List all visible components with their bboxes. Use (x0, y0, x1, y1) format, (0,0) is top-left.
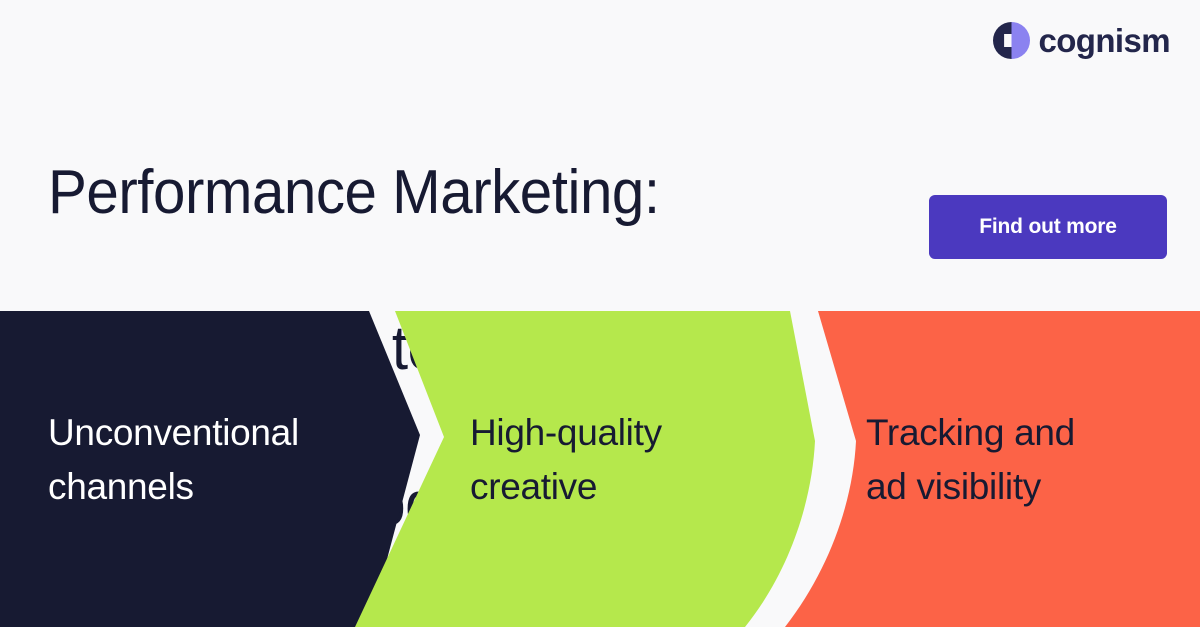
panel-shape-coral (785, 311, 1200, 627)
header-section: Performance Marketing: All You Need to K… (0, 0, 1200, 311)
brand-wordmark: cognism (1039, 24, 1171, 57)
cognism-circle-mark-icon (993, 22, 1030, 59)
panel-shape-green (355, 311, 815, 627)
feature-banner: Unconventional channels High-quality cre… (0, 311, 1200, 627)
banner-panels-shapes (0, 311, 1200, 627)
headline-line-1: Performance Marketing: (48, 154, 800, 232)
find-out-more-button[interactable]: Find out more (929, 195, 1167, 259)
brand-logo[interactable]: cognism (993, 22, 1171, 59)
panel-shape-navy (0, 311, 420, 627)
promo-banner-canvas: Performance Marketing: All You Need to K… (0, 0, 1200, 627)
